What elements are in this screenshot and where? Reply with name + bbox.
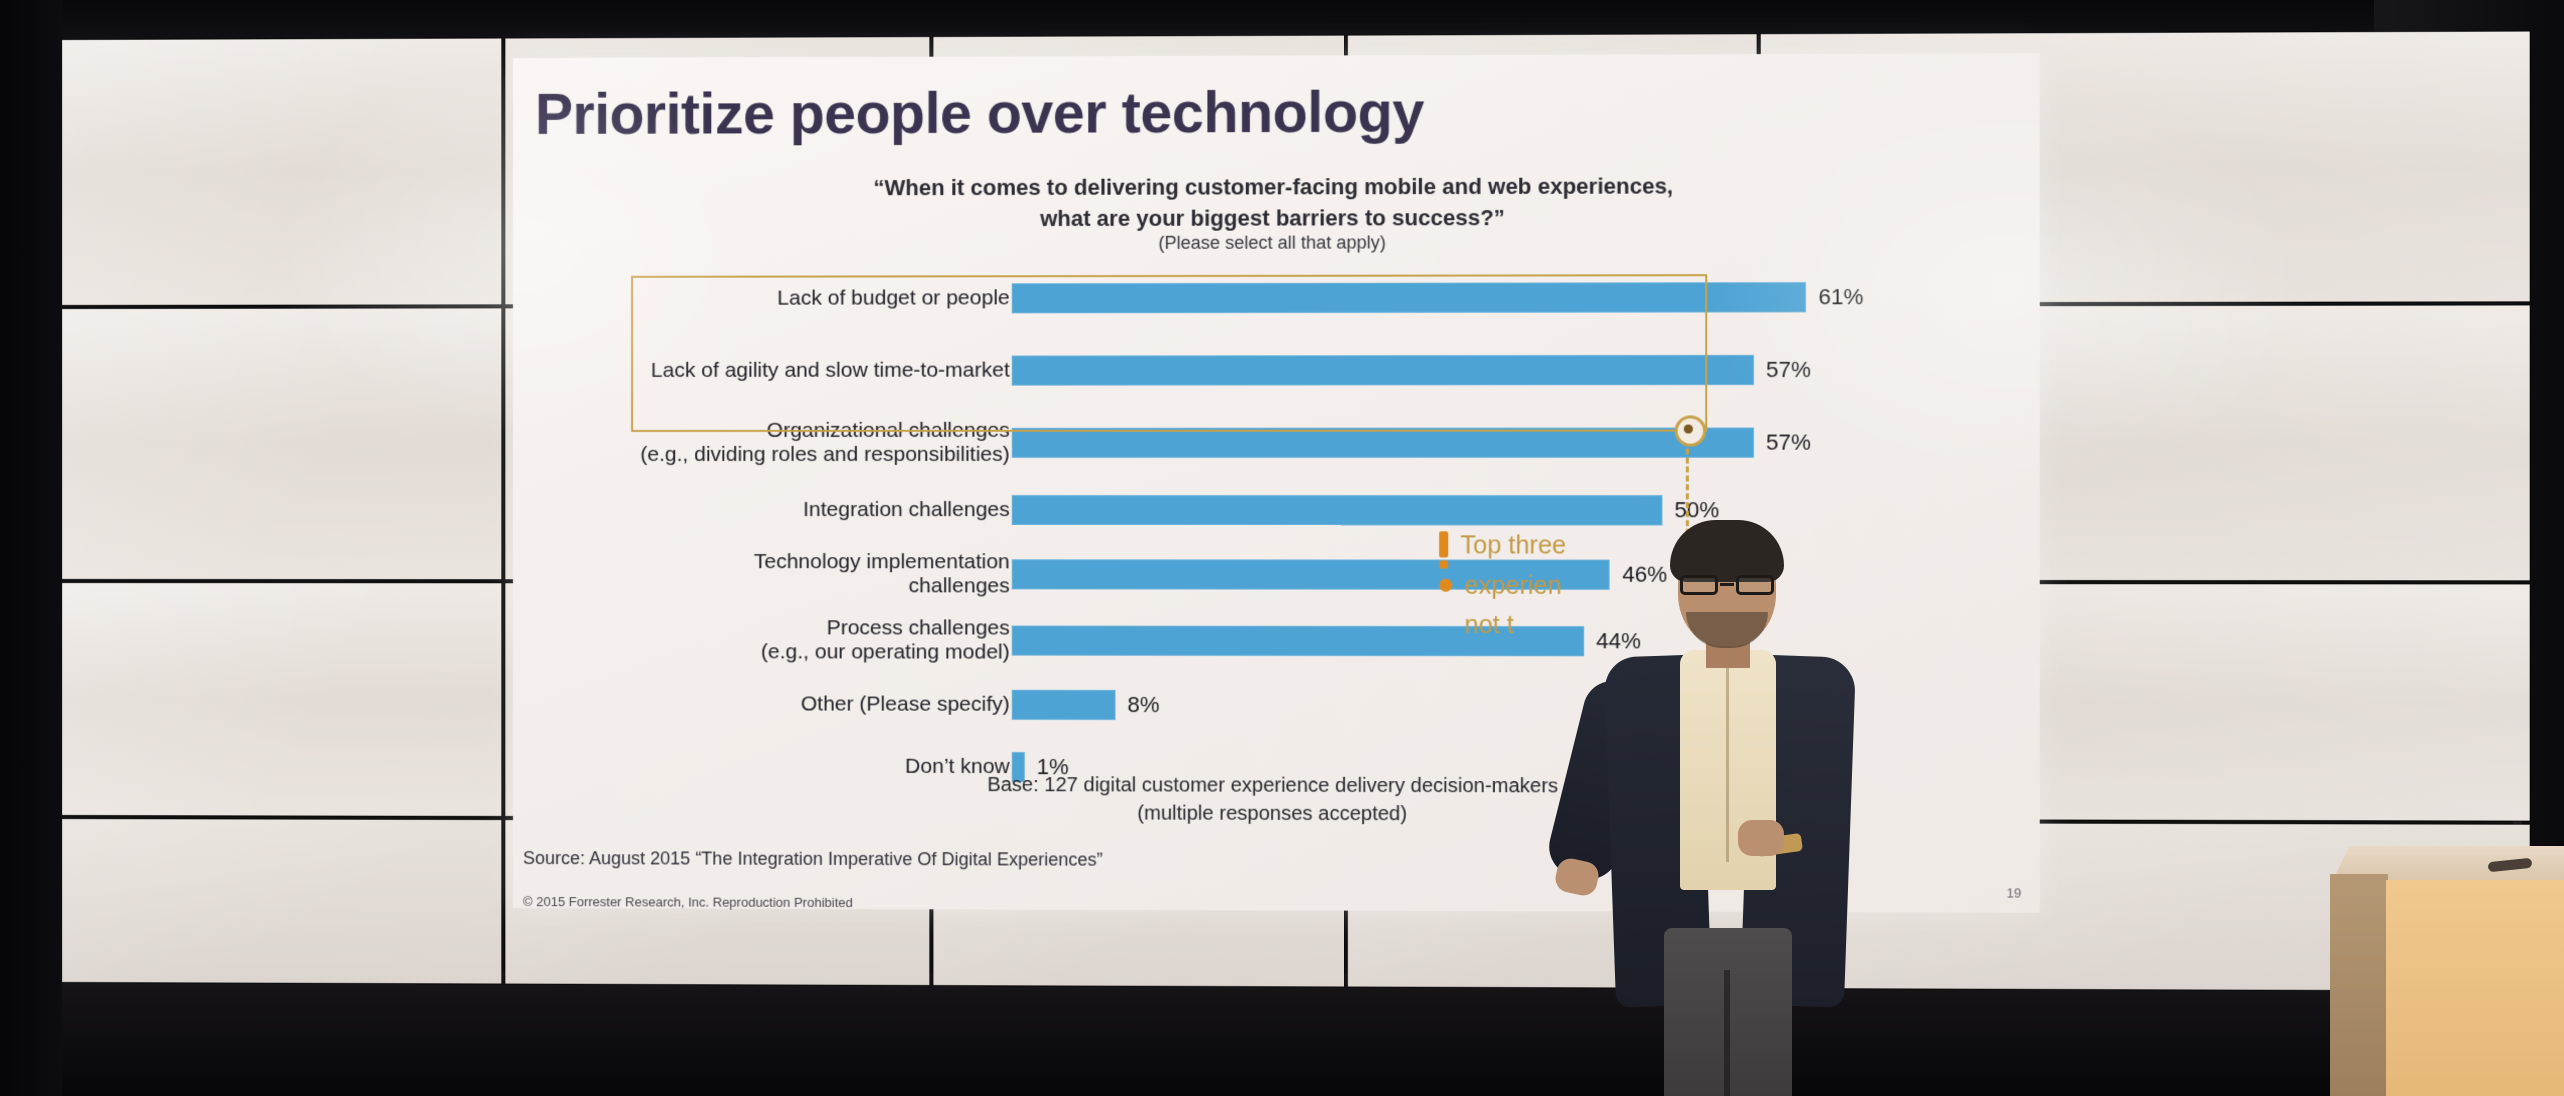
chart-row-label: Lack of budget or people [548,286,1010,311]
wall-panel [62,38,501,305]
presenter-right-hand [1738,820,1784,856]
presenter-figure [1560,520,1890,1096]
chart-row-label-line-1: Lack of agility and slow time-to-market [548,358,1010,383]
lectern-front [2386,880,2564,1096]
chart-bar-value: 57% [1766,357,1811,383]
chart-row-label: Other (Please specify) [548,692,1010,717]
chart-row-label-line-1: Lack of budget or people [548,286,1010,311]
chart-row-label: Organizational challenges(e.g., dividing… [548,418,1010,467]
chart-row-label-line-2: (e.g., our operating model) [548,640,1010,665]
chart-bar [1012,427,1754,457]
chart-bar [1012,282,1807,313]
lectern-side [2330,874,2388,1096]
slide-page-number: 19 [2007,885,2022,900]
chart-row-label-line-1: Organizational challenges [548,418,1010,443]
callout-line-2-text: experien [1464,568,1561,604]
source-note: Source: August 2015 “The Integration Imp… [523,848,1713,872]
chart-row-label-line-1: Other (Please specify) [548,692,1010,717]
chart-bar [1012,690,1116,720]
slide-subtitle: “When it comes to delivering customer-fa… [513,170,2040,236]
page-title: Prioritize people over technology [535,78,1746,148]
chart-row-label-line-1: Technology implementation [548,550,1010,575]
presenter-legs [1664,928,1792,1096]
chart-row-label: Technology implementationchallenges [548,550,1010,599]
chart-row: Lack of budget or people61% [513,261,2040,335]
chart-bar-value: 8% [1128,692,1160,718]
wall-panel [62,583,501,816]
chart-row-label-line-1: Integration challenges [548,498,1010,522]
chart-row-label-line-2: challenges [548,574,1010,599]
slide-subtitle-line-1: “When it comes to delivering customer-fa… [513,170,2040,205]
chart-bar [1012,355,1754,386]
chart-row-label: Lack of agility and slow time-to-market [548,358,1010,383]
chart-row-label-line-2: (e.g., dividing roles and responsibiliti… [548,443,1010,468]
chart-bar-value: 57% [1766,429,1811,455]
left-wall-dark [0,0,62,1096]
exclamation-bullet-icon [1439,531,1448,557]
chart-row-label-line-1: Process challenges [548,616,1010,641]
chart-bar-value: 61% [1819,284,1864,310]
wall-panel [62,819,501,984]
glasses-icon [1678,575,1776,595]
copyright-note: © 2015 Forrester Research, Inc. Reproduc… [523,894,853,910]
stage-scene: Prioritize people over technology “When … [0,0,2564,1096]
dot-bullet-icon [1439,578,1452,591]
chart-row-label: Integration challenges [548,498,1010,522]
chart-row-label: Process challenges(e.g., our operating m… [548,616,1010,665]
slide-subtitle-line-2: what are your biggest barriers to succes… [513,201,2040,235]
circle-anchor-icon [1675,415,1707,446]
slide-subnote: (Please select all that apply) [513,231,2040,255]
chart-row: Lack of agility and slow time-to-market5… [513,333,2040,407]
callout-line-1-text: Top three [1460,528,1566,564]
presenter-beard [1686,612,1768,648]
chart-row: Organizational challenges(e.g., dividing… [513,406,2040,479]
wooden-lectern [2330,846,2564,1096]
presenter-hair [1670,520,1784,582]
wall-panel [62,308,501,579]
